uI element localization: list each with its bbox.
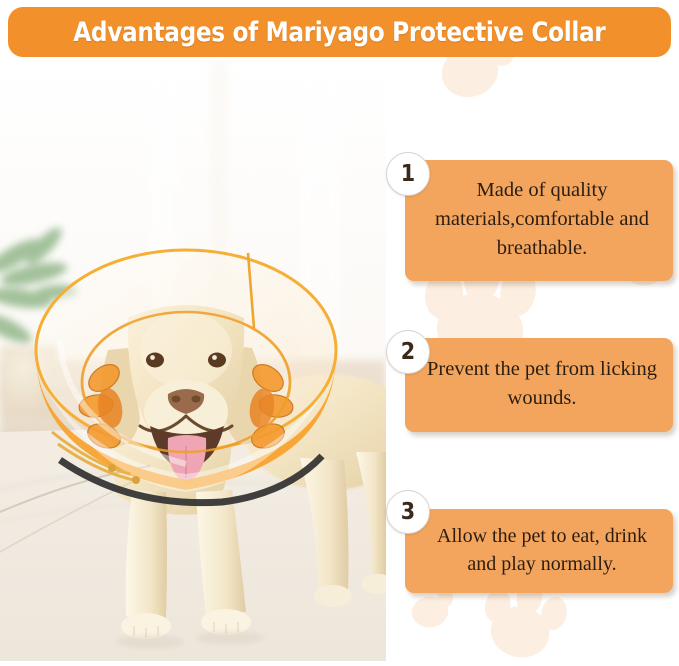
feature-text-1: Made of quality materials,comfortable an…: [421, 176, 663, 263]
feature-text-3: Allow the pet to eat, drink and play nor…: [421, 522, 663, 579]
feature-badge-3: 3: [386, 490, 430, 534]
feature-panel-2: Prevent the pet from licking wounds.: [405, 338, 673, 432]
feature-badge-2: 2: [386, 330, 430, 374]
product-photo: [0, 60, 386, 661]
feature-badge-1: 1: [386, 152, 430, 196]
feature-number-1: 1: [401, 163, 415, 186]
page-title: Advantages of Mariyago Protective Collar: [73, 17, 605, 48]
feature-number-3: 3: [401, 501, 415, 524]
feature-panel-3: Allow the pet to eat, drink and play nor…: [405, 509, 673, 593]
feature-text-2: Prevent the pet from licking wounds.: [421, 355, 663, 413]
feature-number-2: 2: [401, 341, 415, 364]
header-banner: Advantages of Mariyago Protective Collar: [8, 7, 671, 57]
feature-panel-1: Made of quality materials,comfortable an…: [405, 160, 673, 281]
